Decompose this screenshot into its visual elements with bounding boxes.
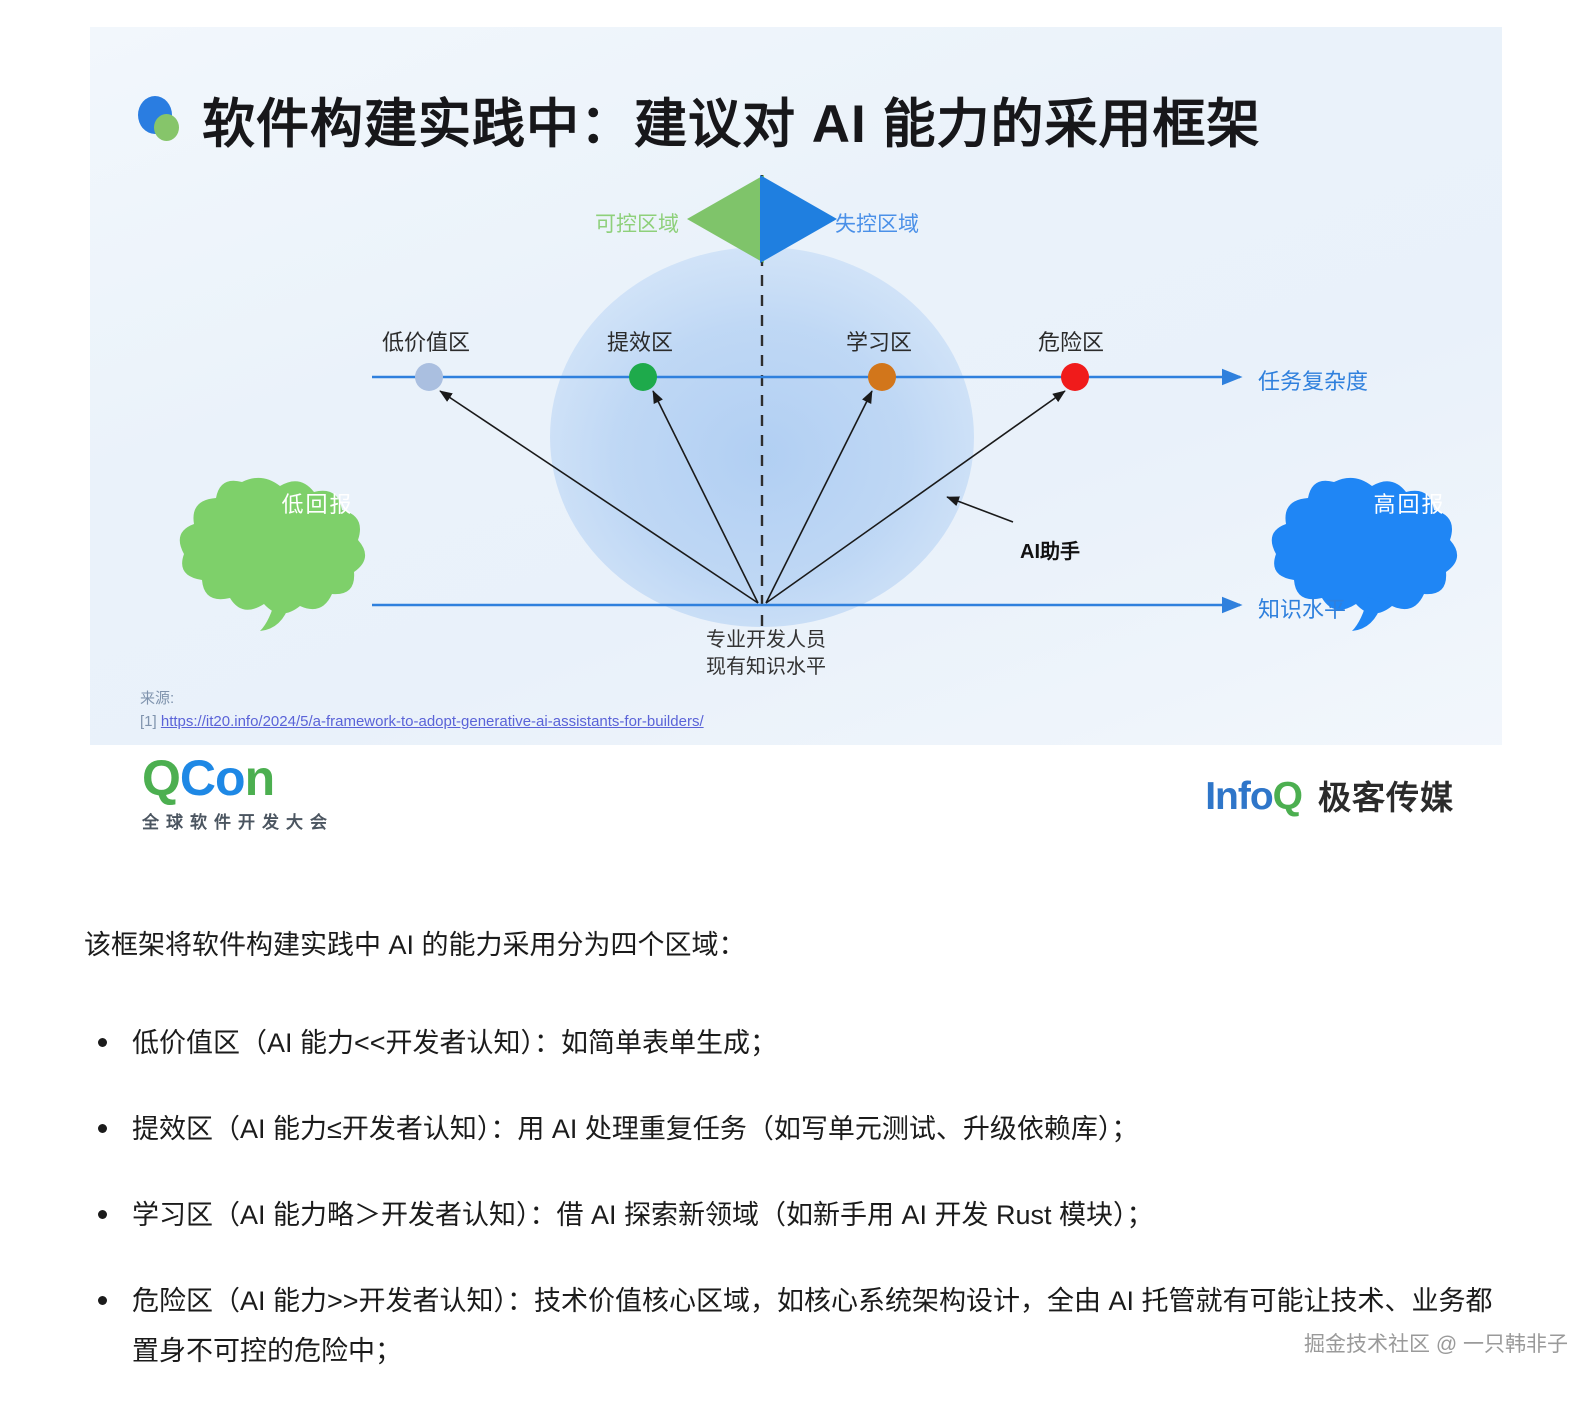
zone-dot-danger	[1061, 363, 1089, 391]
qcon-letter-o: o	[215, 750, 245, 806]
infoq-letter-q: Q	[1273, 775, 1302, 818]
ai-assistant-annotation: AI助手	[1020, 535, 1080, 564]
list-item: 提效区（AI 能力≤开发者认知）：用 AI 处理重复任务（如写单元测试、升级依赖…	[84, 1105, 1514, 1155]
zone-dot-learning	[868, 363, 896, 391]
source-block: 来源: [1] https://it20.info/2024/5/a-frame…	[140, 687, 704, 734]
axis-label-task-complexity: 任务复杂度	[1258, 364, 1368, 396]
zone-label-learning: 学习区	[846, 325, 912, 357]
zone-label-low-value: 低价值区	[382, 325, 470, 357]
qcon-letter-c: C	[180, 750, 215, 806]
article-intro: 该框架将软件构建实践中 AI 的能力采用分为四个区域：	[84, 925, 1514, 967]
infoq-logo: InfoQ 极客传媒	[1205, 771, 1454, 819]
zone-label-danger: 危险区	[1038, 325, 1104, 357]
qcon-subtitle: 全球软件开发大会	[142, 808, 442, 833]
origin-annotation: 专业开发人员 现有知识水平	[650, 627, 882, 681]
zone-label-efficiency: 提效区	[607, 325, 673, 357]
list-item: 低价值区（AI 能力<<开发者认知）：如简单表单生成；	[84, 1019, 1514, 1069]
axis-label-knowledge-level: 知识水平	[1258, 592, 1346, 624]
list-item: 危险区（AI 能力>>开发者认知）：技术价值核心区域，如核心系统架构设计，全由 …	[84, 1277, 1514, 1377]
source-line: [1] https://it20.info/2024/5/a-framework…	[140, 710, 704, 733]
qcon-letter-q: Q	[142, 750, 180, 806]
source-caption: 来源:	[140, 687, 704, 710]
infoq-subtitle: 极客传媒	[1318, 771, 1454, 819]
slide-card: 软件构建实践中：建议对 AI 能力的采用框架	[90, 27, 1502, 845]
watermark: 掘金技术社区 @ 一只韩非子	[1304, 1328, 1568, 1358]
source-marker: [1]	[140, 713, 157, 730]
cloud-label-low-return: 低回报	[230, 487, 405, 519]
infoq-letters-info: Info	[1205, 775, 1272, 818]
zone-dot-low-value	[415, 363, 443, 391]
zone-dot-efficiency	[629, 363, 657, 391]
uncontrollable-region-label: 失控区域	[835, 208, 919, 238]
qcon-letter-n: n	[245, 750, 275, 806]
qcon-logo: QCon 全球软件开发大会	[142, 753, 442, 833]
article-body: 该框架将软件构建实践中 AI 的能力采用分为四个区域： 低价值区（AI 能力<<…	[84, 925, 1514, 1413]
infoq-wordmark: InfoQ	[1205, 777, 1302, 816]
cloud-label-high-return: 高回报	[1322, 487, 1497, 519]
controllable-region-label: 可控区域	[595, 208, 679, 238]
qcon-wordmark: QCon	[142, 753, 442, 803]
source-url-link[interactable]: https://it20.info/2024/5/a-framework-to-…	[161, 713, 704, 730]
origin-annotation-line2: 现有知识水平	[650, 654, 882, 681]
origin-annotation-line1: 专业开发人员	[650, 627, 882, 654]
zone-bullet-list: 低价值区（AI 能力<<开发者认知）：如简单表单生成； 提效区（AI 能力≤开发…	[84, 1019, 1514, 1377]
list-item: 学习区（AI 能力略＞开发者认知）：借 AI 探索新领域（如新手用 AI 开发 …	[84, 1191, 1514, 1241]
